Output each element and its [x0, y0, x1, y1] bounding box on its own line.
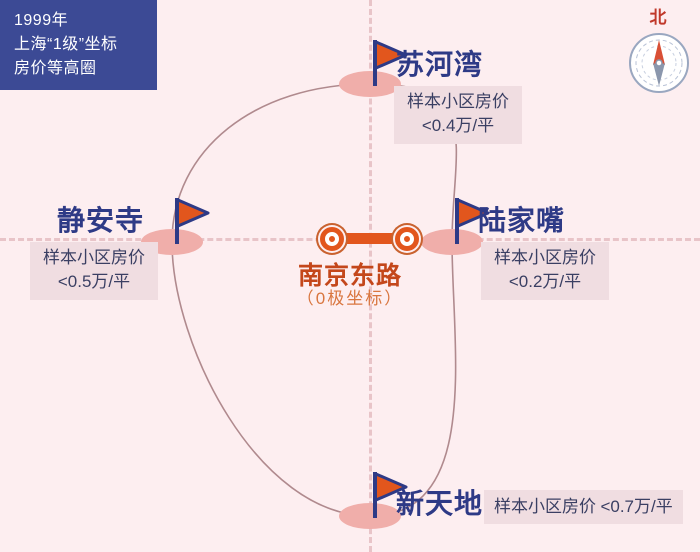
- infographic-canvas: 1999年 上海“1级”坐标 房价等高圈 北 苏河湾 样本小区房价 <0.4万/…: [0, 0, 700, 552]
- center-place-sublabel: （0极坐标）: [0, 288, 700, 310]
- title-block: 1999年 上海“1级”坐标 房价等高圈: [0, 0, 157, 90]
- metro-station-icon: [400, 232, 414, 246]
- compass: 北: [620, 8, 696, 104]
- price-value-suhewan: <0.4万/平: [403, 114, 513, 138]
- zero-point-node-left[interactable]: [320, 227, 344, 251]
- flag-icon: [170, 196, 214, 244]
- place-name-xintiandi: 新天地: [396, 489, 483, 519]
- title-line-1: 1999年: [14, 9, 157, 33]
- price-value-xintiandi: <0.7万/平: [600, 497, 672, 516]
- compass-icon: [628, 32, 690, 94]
- compass-north-label: 北: [620, 8, 696, 28]
- place-name-lujiazui: 陆家嘴: [478, 206, 565, 236]
- metro-station-icon: [325, 232, 339, 246]
- info-box-suhewan: 样本小区房价 <0.4万/平: [394, 86, 522, 144]
- price-label-xintiandi: 样本小区房价: [494, 497, 596, 516]
- title-line-3: 房价等高圈: [14, 57, 157, 81]
- price-label-suhewan: 样本小区房价: [403, 90, 513, 114]
- zero-point-node-right[interactable]: [395, 227, 419, 251]
- info-box-xintiandi: 样本小区房价 <0.7万/平: [484, 490, 683, 524]
- title-line-2: 上海“1级”坐标: [14, 33, 157, 57]
- place-name-jingansi: 静安寺: [57, 206, 144, 236]
- place-name-suhewan: 苏河湾: [396, 50, 483, 80]
- center-place-name: 南京东路: [0, 262, 700, 290]
